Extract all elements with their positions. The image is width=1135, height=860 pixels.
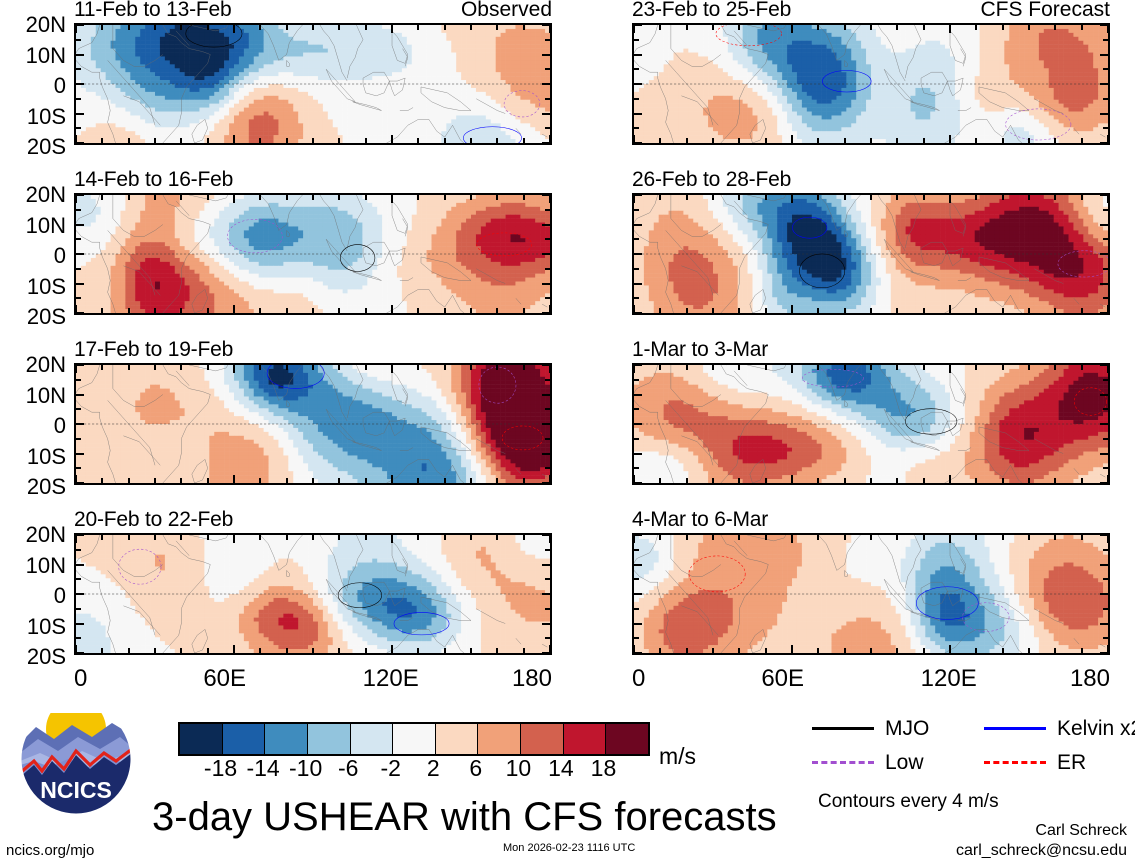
y-tick (76, 127, 81, 129)
colorbar-tick-label: 14 (548, 757, 574, 780)
map-area-p7[interactable] (632, 363, 1110, 485)
axis-ticks (634, 535, 1108, 653)
x-tick (1002, 308, 1004, 313)
y-tick (634, 438, 639, 440)
logo-text: NCICS (40, 777, 112, 803)
x-tick (1002, 25, 1004, 30)
legend-item-mjo[interactable]: MJO (812, 718, 929, 739)
x-tick (286, 648, 288, 653)
colorbar-tick-label: 10 (506, 757, 532, 780)
y-tick (542, 482, 550, 484)
y-tick (76, 593, 84, 595)
y-tick (545, 268, 550, 270)
y-tick (1100, 423, 1108, 425)
x-tick (896, 25, 898, 30)
x-tick (101, 138, 103, 143)
x-tick (765, 478, 767, 483)
x-tick (817, 478, 819, 483)
y-axis-label: 10N (26, 45, 66, 67)
x-tick (712, 25, 714, 30)
panel-title: 23-Feb to 25-Feb (632, 0, 791, 20)
x-tick (817, 648, 819, 653)
colorbar-band-2 (265, 724, 308, 754)
colorbar-tick-label: 6 (469, 757, 482, 780)
site-url[interactable]: ncics.org/mjo (6, 843, 94, 858)
x-tick (338, 308, 340, 313)
x-axis-label: 120E (363, 667, 419, 691)
y-tick (1103, 467, 1108, 469)
x-tick (391, 535, 393, 543)
contour-interval-note: Contours every 4 m/s (818, 792, 999, 811)
y-tick (542, 194, 550, 196)
y-tick (545, 438, 550, 440)
y-axis-label: 10S (27, 106, 66, 128)
x-axis-labels-col-left: 060E120E180 (74, 667, 552, 697)
x-tick (338, 195, 340, 200)
x-tick (659, 195, 661, 200)
colorbar-tick-label: -6 (338, 757, 358, 780)
x-tick (791, 475, 793, 483)
x-tick (154, 365, 156, 370)
x-axis-label: 60E (203, 667, 246, 691)
x-tick (417, 25, 419, 30)
colorbar-band-10 (606, 724, 648, 754)
y-axis-label: 0 (54, 585, 66, 607)
x-tick (1002, 535, 1004, 540)
colorbar-band-8 (521, 724, 564, 754)
x-tick (154, 478, 156, 483)
y-tick (1100, 453, 1108, 455)
y-tick (542, 453, 550, 455)
x-tick (101, 648, 103, 653)
x-tick (633, 25, 635, 33)
colorbar-tick-label: -18 (204, 757, 237, 780)
x-tick (312, 195, 314, 200)
x-tick (180, 25, 182, 30)
x-tick (633, 535, 635, 543)
y-tick (1103, 39, 1108, 41)
x-tick (128, 478, 130, 483)
y-tick (634, 564, 642, 566)
y-tick (76, 238, 81, 240)
y-tick (76, 652, 84, 654)
y-tick (634, 623, 642, 625)
y-tick (542, 283, 550, 285)
x-tick (738, 648, 740, 653)
x-tick (712, 308, 714, 313)
y-tick (1103, 379, 1108, 381)
x-tick (1028, 535, 1030, 540)
y-axis-label: 0 (54, 415, 66, 437)
x-tick (312, 535, 314, 540)
y-tick (542, 623, 550, 625)
x-tick (712, 648, 714, 653)
x-tick (312, 308, 314, 313)
x-tick (844, 648, 846, 653)
y-tick (634, 408, 639, 410)
y-tick (76, 482, 84, 484)
x-tick (417, 535, 419, 540)
y-tick (634, 238, 639, 240)
y-tick (76, 423, 84, 425)
x-tick (1081, 195, 1083, 200)
legend-label: Low (885, 752, 924, 773)
x-tick (207, 648, 209, 653)
y-axis-labels-row-1: 20N10N010S20S (0, 25, 66, 147)
x-tick (1107, 195, 1109, 203)
x-tick (417, 365, 419, 370)
x-tick (975, 25, 977, 30)
x-tick (949, 135, 951, 143)
y-tick (76, 312, 84, 314)
x-tick (233, 365, 235, 373)
x-tick (870, 535, 872, 540)
y-tick (1100, 593, 1108, 595)
x-tick (1028, 308, 1030, 313)
x-tick (949, 475, 951, 483)
colorbar-band-5 (393, 724, 436, 754)
author-name: Carl Schreck (1035, 821, 1127, 840)
x-tick (896, 648, 898, 653)
y-tick (1100, 194, 1108, 196)
x-tick (365, 138, 367, 143)
x-tick (738, 308, 740, 313)
x-tick (738, 478, 740, 483)
x-tick (312, 365, 314, 370)
y-tick (1103, 637, 1108, 639)
legend-item-er[interactable]: ER (984, 752, 1086, 773)
x-tick (233, 475, 235, 483)
x-tick (391, 195, 393, 203)
x-tick (259, 25, 261, 30)
y-tick (634, 39, 639, 41)
panel-title: 4-Mar to 6-Mar (632, 509, 768, 530)
y-axis-label: 10S (27, 616, 66, 638)
x-tick (154, 648, 156, 653)
y-tick (634, 253, 642, 255)
x-tick (765, 365, 767, 370)
x-tick (659, 648, 661, 653)
y-tick (1103, 408, 1108, 410)
x-tick (686, 138, 688, 143)
y-tick (545, 297, 550, 299)
x-tick (765, 535, 767, 540)
x-tick (365, 308, 367, 313)
x-axis-label: 0 (632, 667, 645, 691)
map-area-p1[interactable] (74, 23, 552, 145)
x-tick (259, 195, 261, 200)
y-axis-label: 20S (27, 476, 66, 498)
map-panel-p3: 17-Feb to 19-Feb (74, 341, 552, 487)
x-tick (1054, 25, 1056, 30)
x-tick (312, 138, 314, 143)
map-panel-p7: 1-Mar to 3-Mar (632, 341, 1110, 487)
x-tick (923, 478, 925, 483)
x-tick (975, 535, 977, 540)
x-tick (1054, 648, 1056, 653)
x-tick (738, 365, 740, 370)
panel-title: 14-Feb to 16-Feb (74, 169, 233, 190)
panel-title: 26-Feb to 28-Feb (632, 169, 791, 190)
x-tick (549, 25, 551, 33)
x-tick (338, 648, 340, 653)
x-tick (817, 25, 819, 30)
y-tick (542, 113, 550, 115)
x-tick (312, 648, 314, 653)
map-panel-p6: 26-Feb to 28-Feb (632, 171, 1110, 317)
y-tick (1100, 283, 1108, 285)
colorbar-tick-label: 2 (427, 757, 440, 780)
y-tick (634, 113, 642, 115)
y-tick (634, 224, 642, 226)
x-tick (417, 138, 419, 143)
axis-ticks (634, 365, 1108, 483)
x-tick (765, 138, 767, 143)
x-tick (496, 365, 498, 370)
y-tick (1100, 83, 1108, 85)
x-tick (1081, 308, 1083, 313)
map-area-p6[interactable] (632, 193, 1110, 315)
main-title: 3-day USHEAR with CFS forecasts (152, 797, 777, 837)
y-tick (1100, 534, 1108, 536)
y-tick (634, 283, 642, 285)
y-tick (542, 564, 550, 566)
x-tick (975, 138, 977, 143)
x-tick (233, 305, 235, 313)
y-tick (1100, 564, 1108, 566)
y-tick (76, 623, 84, 625)
x-tick (1002, 648, 1004, 653)
x-tick (870, 308, 872, 313)
map-area-p2[interactable] (74, 193, 552, 315)
colorbar-band-3 (308, 724, 351, 754)
x-tick (870, 25, 872, 30)
x-tick (844, 25, 846, 30)
y-tick (1100, 54, 1108, 56)
map-area-p5[interactable] (632, 23, 1110, 145)
x-tick (975, 308, 977, 313)
axis-ticks (76, 535, 550, 653)
colorbar-tick-label: -2 (380, 757, 400, 780)
x-tick (1107, 25, 1109, 33)
y-axis-label: 0 (54, 75, 66, 97)
y-tick (1100, 623, 1108, 625)
x-tick (496, 308, 498, 313)
y-tick (545, 467, 550, 469)
y-tick (545, 578, 550, 580)
y-tick (542, 364, 550, 366)
y-tick (76, 83, 84, 85)
x-tick (923, 308, 925, 313)
x-tick (686, 308, 688, 313)
author-email[interactable]: carl_schreck@ncsu.edu (956, 841, 1127, 860)
x-tick (286, 478, 288, 483)
x-tick (1002, 478, 1004, 483)
y-tick (1100, 24, 1108, 26)
x-tick (844, 138, 846, 143)
x-tick (470, 478, 472, 483)
y-tick (76, 268, 81, 270)
y-axis-label: 10S (27, 276, 66, 298)
y-tick (634, 83, 642, 85)
x-tick (233, 25, 235, 33)
x-tick (1081, 478, 1083, 483)
x-tick (75, 25, 77, 33)
x-tick (1028, 648, 1030, 653)
x-tick (870, 365, 872, 370)
x-tick (523, 478, 525, 483)
x-tick (496, 25, 498, 30)
y-tick (634, 608, 639, 610)
y-tick (545, 39, 550, 41)
x-tick (128, 365, 130, 370)
x-tick (180, 138, 182, 143)
map-area-p4[interactable] (74, 533, 552, 655)
y-tick (76, 142, 84, 144)
y-axis-label: 10N (26, 215, 66, 237)
x-tick (712, 535, 714, 540)
x-tick (949, 645, 951, 653)
y-tick (545, 408, 550, 410)
y-tick (76, 283, 84, 285)
y-tick (76, 564, 84, 566)
y-tick (76, 54, 84, 56)
colorbar-tick-label: -14 (246, 757, 279, 780)
map-panel-p2: 14-Feb to 16-Feb (74, 171, 552, 317)
colorbar-tick-label: -10 (289, 757, 322, 780)
x-tick (817, 535, 819, 540)
x-axis-label: 120E (921, 667, 977, 691)
x-tick (923, 535, 925, 540)
x-tick (470, 25, 472, 30)
x-tick (417, 195, 419, 200)
x-tick (712, 365, 714, 370)
x-tick (1081, 25, 1083, 30)
x-tick (180, 648, 182, 653)
x-tick (180, 365, 182, 370)
x-tick (470, 535, 472, 540)
x-tick (949, 535, 951, 543)
y-tick (1103, 98, 1108, 100)
x-tick (765, 308, 767, 313)
x-tick (496, 195, 498, 200)
x-tick (496, 535, 498, 540)
y-tick (1103, 608, 1108, 610)
y-tick (76, 113, 84, 115)
x-tick (870, 195, 872, 200)
y-tick (76, 394, 84, 396)
x-tick (1028, 138, 1030, 143)
x-tick (1054, 195, 1056, 200)
map-area-p8[interactable] (632, 533, 1110, 655)
x-tick (128, 648, 130, 653)
x-tick (154, 138, 156, 143)
y-tick (76, 453, 84, 455)
x-tick (444, 478, 446, 483)
y-tick (634, 268, 639, 270)
x-tick (686, 25, 688, 30)
y-tick (545, 98, 550, 100)
x-tick (896, 138, 898, 143)
x-tick (496, 648, 498, 653)
x-tick (207, 138, 209, 143)
y-tick (542, 253, 550, 255)
x-tick (444, 535, 446, 540)
x-tick (949, 305, 951, 313)
y-tick (545, 608, 550, 610)
x-tick (523, 308, 525, 313)
y-tick (76, 39, 81, 41)
x-tick (791, 305, 793, 313)
x-tick (791, 645, 793, 653)
x-tick (659, 25, 661, 30)
x-tick (312, 25, 314, 30)
x-tick (286, 308, 288, 313)
x-tick (791, 25, 793, 33)
x-tick (180, 535, 182, 540)
y-tick (1100, 652, 1108, 654)
x-tick (817, 308, 819, 313)
y-tick (634, 379, 639, 381)
x-tick (686, 478, 688, 483)
x-tick (686, 648, 688, 653)
x-tick (338, 25, 340, 30)
x-tick (365, 25, 367, 30)
legend-item-kelvin-x2[interactable]: Kelvin x2 (984, 718, 1135, 739)
panel-title: 17-Feb to 19-Feb (74, 339, 233, 360)
y-tick (1100, 364, 1108, 366)
x-tick (923, 648, 925, 653)
x-axis-label: 180 (512, 667, 552, 691)
x-tick (844, 365, 846, 370)
ncics-logo[interactable]: NCICS (20, 703, 132, 815)
x-tick (1002, 365, 1004, 370)
map-area-p3[interactable] (74, 363, 552, 485)
y-tick (634, 297, 639, 299)
y-tick (634, 54, 642, 56)
y-tick (545, 209, 550, 211)
axis-ticks (76, 25, 550, 143)
x-tick (686, 535, 688, 540)
y-tick (1103, 297, 1108, 299)
x-tick (1054, 308, 1056, 313)
map-panel-p1: 11-Feb to 13-FebObserved (74, 1, 552, 147)
colorbar-tick-label: 18 (591, 757, 617, 780)
y-tick (634, 364, 642, 366)
x-tick (549, 365, 551, 373)
y-axis-label: 20N (26, 354, 66, 376)
x-tick (286, 195, 288, 200)
legend-item-low[interactable]: Low (812, 752, 924, 773)
colorbar-band-1 (223, 724, 266, 754)
map-panel-p4: 20-Feb to 22-Feb (74, 511, 552, 657)
x-tick (712, 195, 714, 200)
y-tick (542, 54, 550, 56)
y-tick (1103, 438, 1108, 440)
x-tick (417, 478, 419, 483)
x-tick (444, 308, 446, 313)
y-tick (76, 637, 81, 639)
y-axis-label: 0 (54, 245, 66, 267)
x-tick (128, 195, 130, 200)
x-tick (1081, 535, 1083, 540)
x-tick (444, 25, 446, 30)
x-tick (975, 365, 977, 370)
x-tick (738, 138, 740, 143)
x-tick (286, 535, 288, 540)
y-tick (76, 578, 81, 580)
colorbar-band-4 (351, 724, 394, 754)
